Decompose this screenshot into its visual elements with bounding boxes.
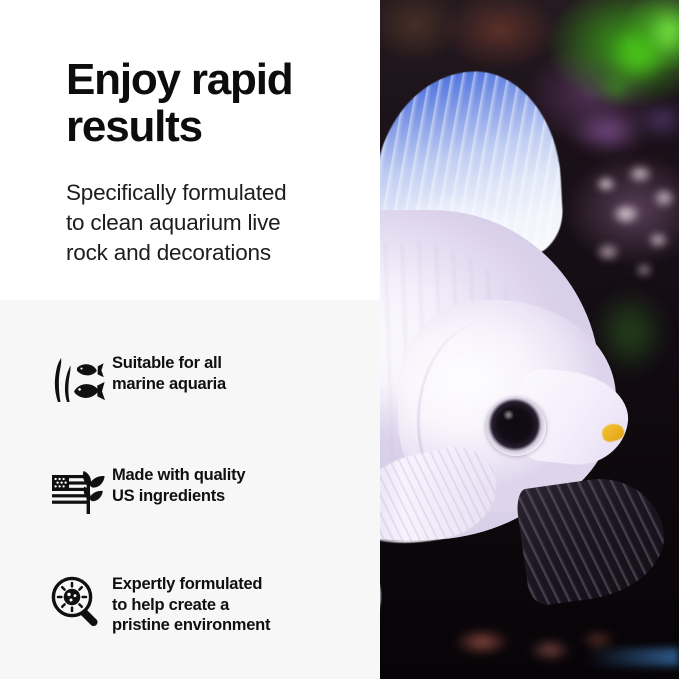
dark-lower-fin-rays (514, 471, 671, 608)
fish-eye-highlight (502, 410, 515, 420)
feature-spacer-2 (50, 518, 370, 573)
subhead-line-3: rock and decorations (66, 238, 366, 268)
feature-label: Expertly formulated to help create a pri… (112, 573, 270, 636)
subhead-line-1: Specifically formulated (66, 178, 366, 208)
feature-3-line-2: to help create a (112, 595, 270, 616)
feature-2-line-2: US ingredients (112, 486, 245, 507)
headline-line-1: Enjoy rapid (66, 57, 366, 104)
feature-item-pristine-environment: Expertly formulated to help create a pri… (50, 573, 370, 636)
blue-light-streak (585, 648, 679, 666)
magnifier-microbe-icon (50, 573, 112, 627)
page-title: Enjoy rapid results (66, 57, 366, 150)
product-photo-fish-in-aquarium (380, 0, 679, 679)
left-content-panel: Enjoy rapid results Specifically formula… (0, 0, 380, 679)
feature-item-us-ingredients: Made with quality US ingredients (50, 464, 370, 518)
feature-1-line-1: Suitable for all (112, 353, 226, 374)
seaweed-fish-icon (50, 352, 112, 406)
feature-list: Suitable for all marine aquaria (50, 352, 370, 636)
feature-2-line-1: Made with quality (112, 465, 245, 486)
product-feature-card: Enjoy rapid results Specifically formula… (0, 0, 679, 679)
subheadline: Specifically formulated to clean aquariu… (66, 178, 366, 268)
feature-3-line-3: pristine environment (112, 615, 270, 636)
feature-3-line-1: Expertly formulated (112, 574, 270, 595)
feature-label: Made with quality US ingredients (112, 464, 245, 506)
feature-1-line-2: marine aquaria (112, 374, 226, 395)
feature-item-marine-aquaria: Suitable for all marine aquaria (50, 352, 370, 406)
fish-eye (486, 398, 546, 456)
bottom-coral-blobs (420, 600, 650, 679)
feature-spacer-1 (50, 406, 370, 464)
white-tang-fish (380, 72, 650, 632)
headline-line-2: results (66, 104, 366, 151)
us-flag-plant-icon (50, 464, 112, 518)
feature-label: Suitable for all marine aquaria (112, 352, 226, 394)
subhead-line-2: to clean aquarium live (66, 208, 366, 238)
